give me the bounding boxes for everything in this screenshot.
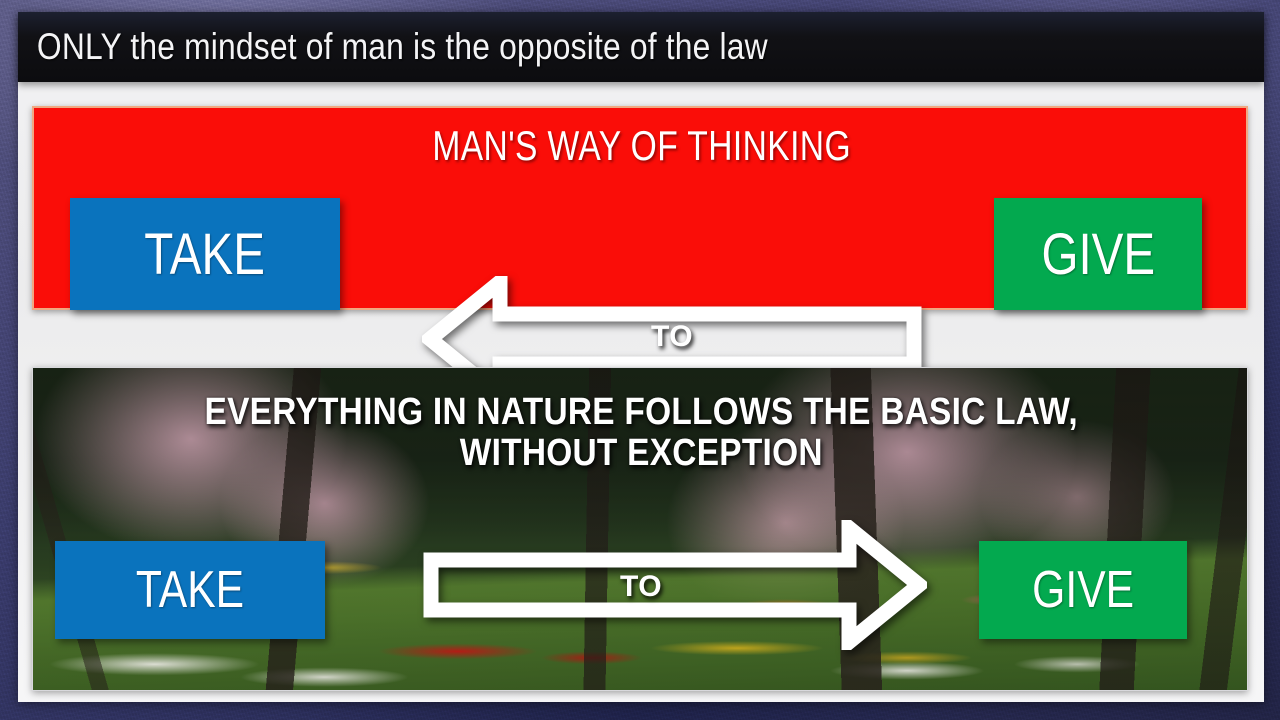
- nature-heading-line-1: EVERYTHING IN NATURE FOLLOWS THE BASIC L…: [73, 392, 1209, 433]
- nature-heading: EVERYTHING IN NATURE FOLLOWS THE BASIC L…: [73, 392, 1209, 474]
- slide-title: ONLY the mindset of man is the opposite …: [18, 26, 768, 68]
- slide-content-panel: ONLY the mindset of man is the opposite …: [18, 12, 1264, 702]
- mans-way-heading: MAN'S WAY OF THINKING: [34, 122, 1250, 170]
- slide-title-bar: ONLY the mindset of man is the opposite …: [18, 12, 1264, 82]
- take-pill-nature[interactable]: TAKE: [55, 541, 325, 639]
- slide-root: ONLY the mindset of man is the opposite …: [0, 0, 1280, 720]
- give-pill-label: GIVE: [1032, 560, 1134, 620]
- give-pill-nature[interactable]: GIVE: [979, 541, 1187, 639]
- nature-section: EVERYTHING IN NATURE FOLLOWS THE BASIC L…: [32, 367, 1248, 691]
- give-pill-mans-way[interactable]: GIVE: [994, 198, 1202, 310]
- take-pill-mans-way[interactable]: TAKE: [70, 198, 340, 310]
- arrow-right-icon: [421, 520, 927, 650]
- take-pill-label: TAKE: [145, 221, 266, 288]
- give-pill-label: GIVE: [1041, 221, 1155, 288]
- mans-way-heading-text: MAN'S WAY OF THINKING: [433, 122, 852, 170]
- take-pill-label: TAKE: [136, 560, 244, 620]
- right-pointing-arrow-nature: TO: [421, 520, 927, 650]
- mans-way-section: MAN'S WAY OF THINKING TAKE GIVE TO: [32, 106, 1248, 310]
- nature-heading-line-2: WITHOUT EXCEPTION: [73, 433, 1209, 474]
